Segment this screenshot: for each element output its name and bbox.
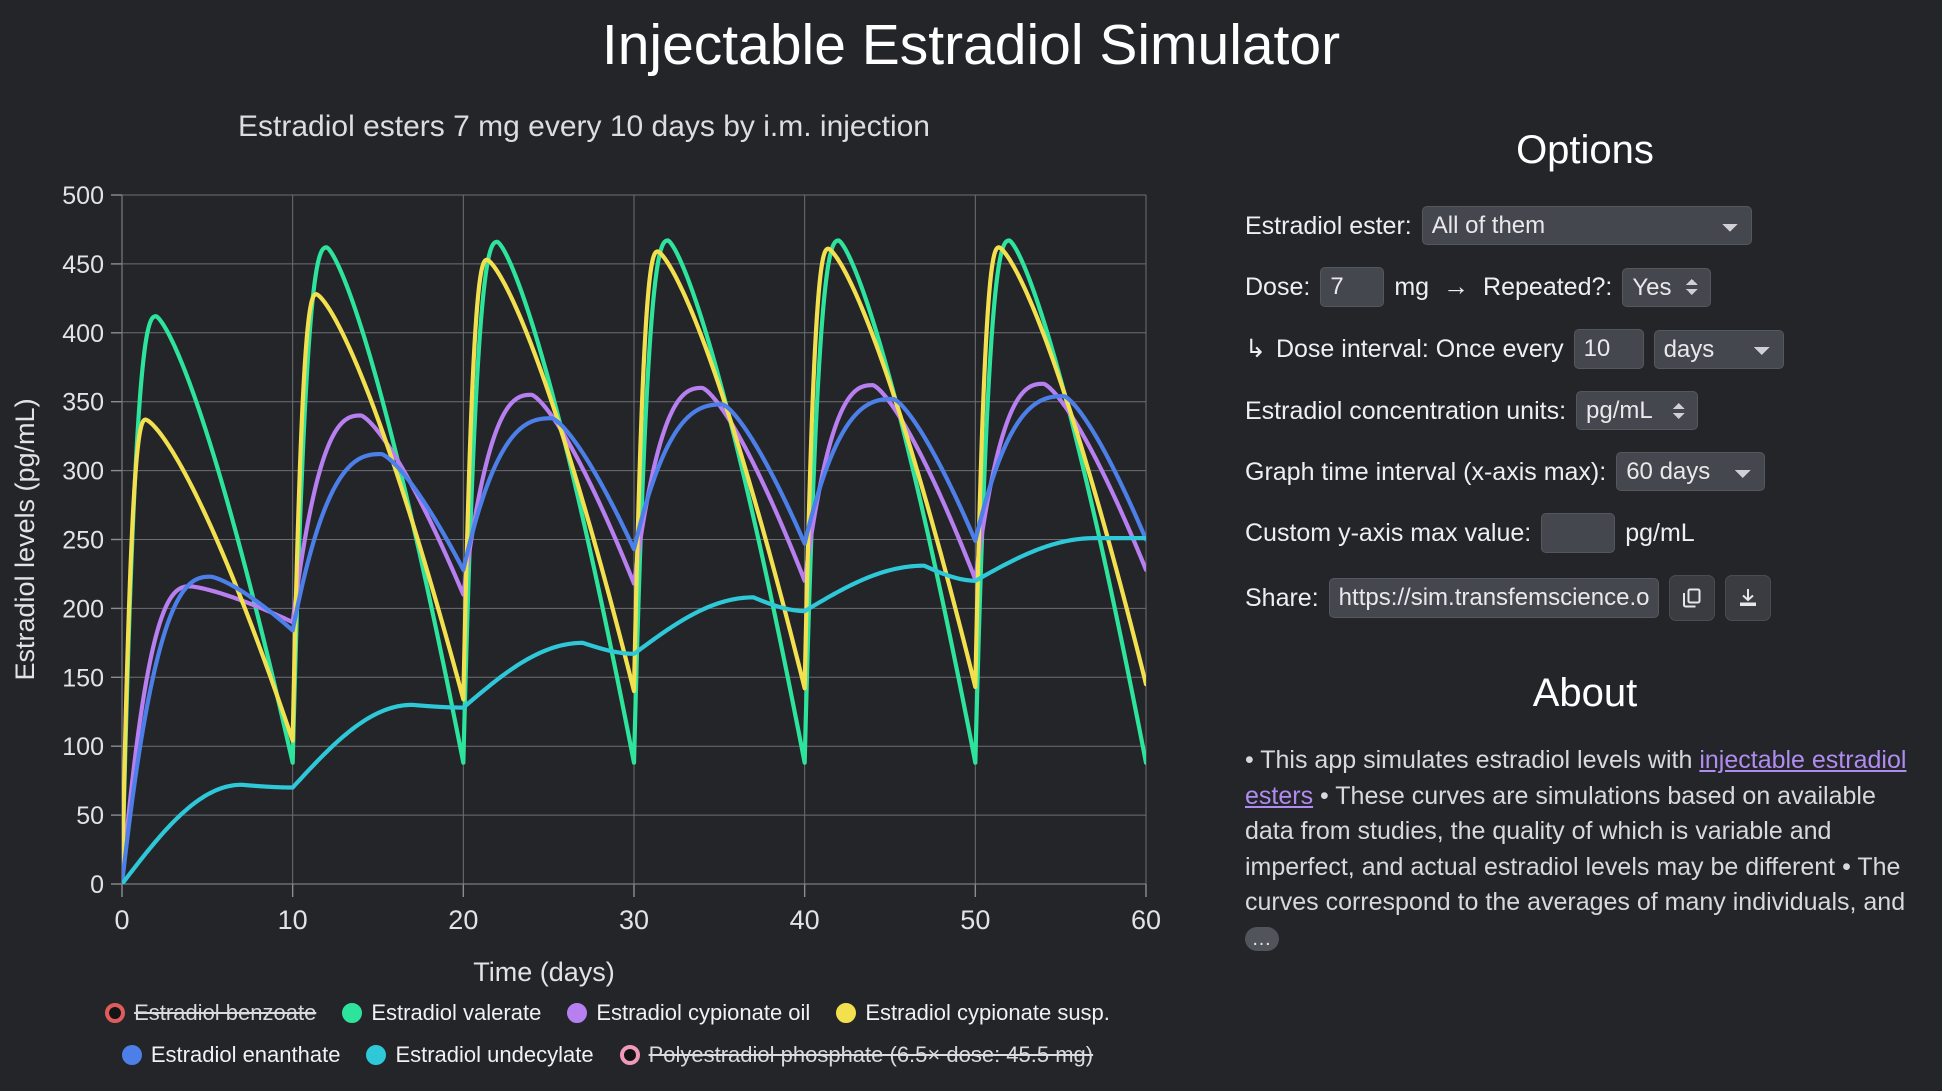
x-axis-label: Time (days) bbox=[473, 957, 615, 987]
tick-label-y: 400 bbox=[62, 320, 104, 348]
legend-swatch-icon bbox=[122, 1045, 142, 1065]
tick-label-x: 10 bbox=[278, 905, 308, 935]
y-axis-label: Estradiol levels (pg/mL) bbox=[10, 398, 40, 680]
share-url-input[interactable] bbox=[1329, 578, 1659, 618]
interval-unit-select[interactable]: daysweeksmonths bbox=[1654, 330, 1784, 369]
legend-swatch-icon bbox=[567, 1003, 587, 1023]
ester-select[interactable]: All of themEstradiol benzoateEstradiol v… bbox=[1422, 206, 1752, 245]
legend-label: Estradiol valerate bbox=[371, 1000, 541, 1026]
legend-label: Estradiol benzoate bbox=[134, 1000, 316, 1026]
show-more-button[interactable]: … bbox=[1245, 927, 1279, 951]
legend-row: Estradiol benzoateEstradiol valerateEstr… bbox=[30, 992, 1185, 1034]
option-row-interval: ↳ Dose interval: Once every daysweeksmon… bbox=[1245, 329, 1925, 369]
download-icon bbox=[1736, 586, 1760, 610]
option-row-ester: Estradiol ester: All of themEstradiol be… bbox=[1245, 206, 1925, 245]
dose-input[interactable] bbox=[1320, 267, 1384, 307]
tick-label-x: 0 bbox=[114, 905, 129, 935]
legend-item[interactable]: Estradiol cypionate susp. bbox=[836, 992, 1110, 1034]
app-root: Injectable Estradiol Simulator Estradiol… bbox=[0, 0, 1942, 1091]
units-label: Estradiol concentration units: bbox=[1245, 396, 1566, 426]
legend-swatch-icon bbox=[105, 1003, 125, 1023]
tick-label-y: 300 bbox=[62, 458, 104, 486]
chart-legend: Estradiol benzoateEstradiol valerateEstr… bbox=[0, 992, 1215, 1076]
dose-label: Dose: bbox=[1245, 272, 1310, 302]
legend-swatch-icon bbox=[342, 1003, 362, 1023]
estradiol-chart: Estradiol esters 7 mg every 10 days by i… bbox=[0, 100, 1215, 1090]
ester-label: Estradiol ester: bbox=[1245, 211, 1412, 241]
option-row-ymax: Custom y-axis max value: pg/mL bbox=[1245, 513, 1925, 553]
ymax-label: Custom y-axis max value: bbox=[1245, 518, 1531, 548]
about-text-before: • This app simulates estradiol levels wi… bbox=[1245, 746, 1699, 774]
repeated-select[interactable]: YesNo bbox=[1622, 268, 1711, 307]
about-text: • This app simulates estradiol levels wi… bbox=[1245, 743, 1925, 956]
tick-label-y: 200 bbox=[62, 595, 104, 623]
time-interval-label: Graph time interval (x-axis max): bbox=[1245, 457, 1606, 487]
legend-item[interactable]: Polyestradiol phosphate (6.5× dose: 45.5… bbox=[620, 1034, 1094, 1076]
tick-label-x: 20 bbox=[448, 905, 478, 935]
interval-label: Dose interval: Once every bbox=[1276, 334, 1564, 364]
legend-item[interactable]: Estradiol cypionate oil bbox=[567, 992, 810, 1034]
graph-time-interval-select[interactable]: 30 days60 days90 days180 days365 days bbox=[1616, 452, 1765, 491]
option-row-time-interval: Graph time interval (x-axis max): 30 day… bbox=[1245, 452, 1925, 491]
option-row-share: Share: bbox=[1245, 575, 1925, 621]
legend-swatch-icon bbox=[620, 1045, 640, 1065]
dose-unit: mg bbox=[1394, 272, 1429, 302]
about-heading: About bbox=[1245, 671, 1925, 715]
option-row-dose: Dose: mg → Repeated?: YesNo bbox=[1245, 267, 1925, 307]
page-title: Injectable Estradiol Simulator bbox=[0, 0, 1942, 81]
tick-label-y: 0 bbox=[90, 871, 104, 899]
concentration-units-select[interactable]: pg/mLpmol/L bbox=[1576, 391, 1698, 430]
options-panel: Options Estradiol ester: All of themEstr… bbox=[1245, 128, 1925, 956]
tick-label-y: 50 bbox=[76, 802, 104, 830]
legend-label: Estradiol cypionate susp. bbox=[865, 1000, 1110, 1026]
chart-canvas: Estradiol esters 7 mg every 10 days by i… bbox=[0, 100, 1215, 1000]
about-text-after: • These curves are simulations based on … bbox=[1245, 782, 1905, 917]
tick-label-x: 60 bbox=[1131, 905, 1161, 935]
legend-item[interactable]: Estradiol undecylate bbox=[366, 1034, 593, 1076]
tick-label-y: 450 bbox=[62, 251, 104, 279]
copy-icon bbox=[1680, 586, 1704, 610]
arrow-right-icon: → bbox=[1439, 271, 1473, 302]
legend-row: Estradiol enanthateEstradiol undecylateP… bbox=[30, 1034, 1185, 1076]
tick-label-x: 50 bbox=[960, 905, 990, 935]
copy-link-button[interactable] bbox=[1669, 575, 1715, 621]
options-heading: Options bbox=[1245, 128, 1925, 172]
repeated-label: Repeated?: bbox=[1483, 272, 1612, 302]
legend-swatch-icon bbox=[836, 1003, 856, 1023]
sub-option-hook-icon: ↳ bbox=[1245, 334, 1266, 364]
legend-item[interactable]: Estradiol benzoate bbox=[105, 992, 316, 1034]
legend-item[interactable]: Estradiol valerate bbox=[342, 992, 541, 1034]
tick-label-y: 150 bbox=[62, 664, 104, 692]
share-label: Share: bbox=[1245, 583, 1319, 613]
tick-label-y: 500 bbox=[62, 182, 104, 210]
legend-item[interactable]: Estradiol enanthate bbox=[122, 1034, 341, 1076]
tick-label-x: 30 bbox=[619, 905, 649, 935]
tick-label-x: 40 bbox=[790, 905, 820, 935]
tick-label-y: 100 bbox=[62, 733, 104, 761]
custom-ymax-input[interactable] bbox=[1541, 513, 1615, 553]
option-row-units: Estradiol concentration units: pg/mLpmol… bbox=[1245, 391, 1925, 430]
legend-label: Polyestradiol phosphate (6.5× dose: 45.5… bbox=[649, 1042, 1094, 1068]
tick-label-y: 250 bbox=[62, 527, 104, 555]
download-image-button[interactable] bbox=[1725, 575, 1771, 621]
legend-label: Estradiol undecylate bbox=[395, 1042, 593, 1068]
legend-label: Estradiol cypionate oil bbox=[596, 1000, 810, 1026]
interval-input[interactable] bbox=[1574, 329, 1644, 369]
chart-title: Estradiol esters 7 mg every 10 days by i… bbox=[238, 110, 930, 143]
legend-swatch-icon bbox=[366, 1045, 386, 1065]
tick-label-y: 350 bbox=[62, 389, 104, 417]
legend-label: Estradiol enanthate bbox=[151, 1042, 341, 1068]
ymax-unit: pg/mL bbox=[1625, 518, 1694, 548]
